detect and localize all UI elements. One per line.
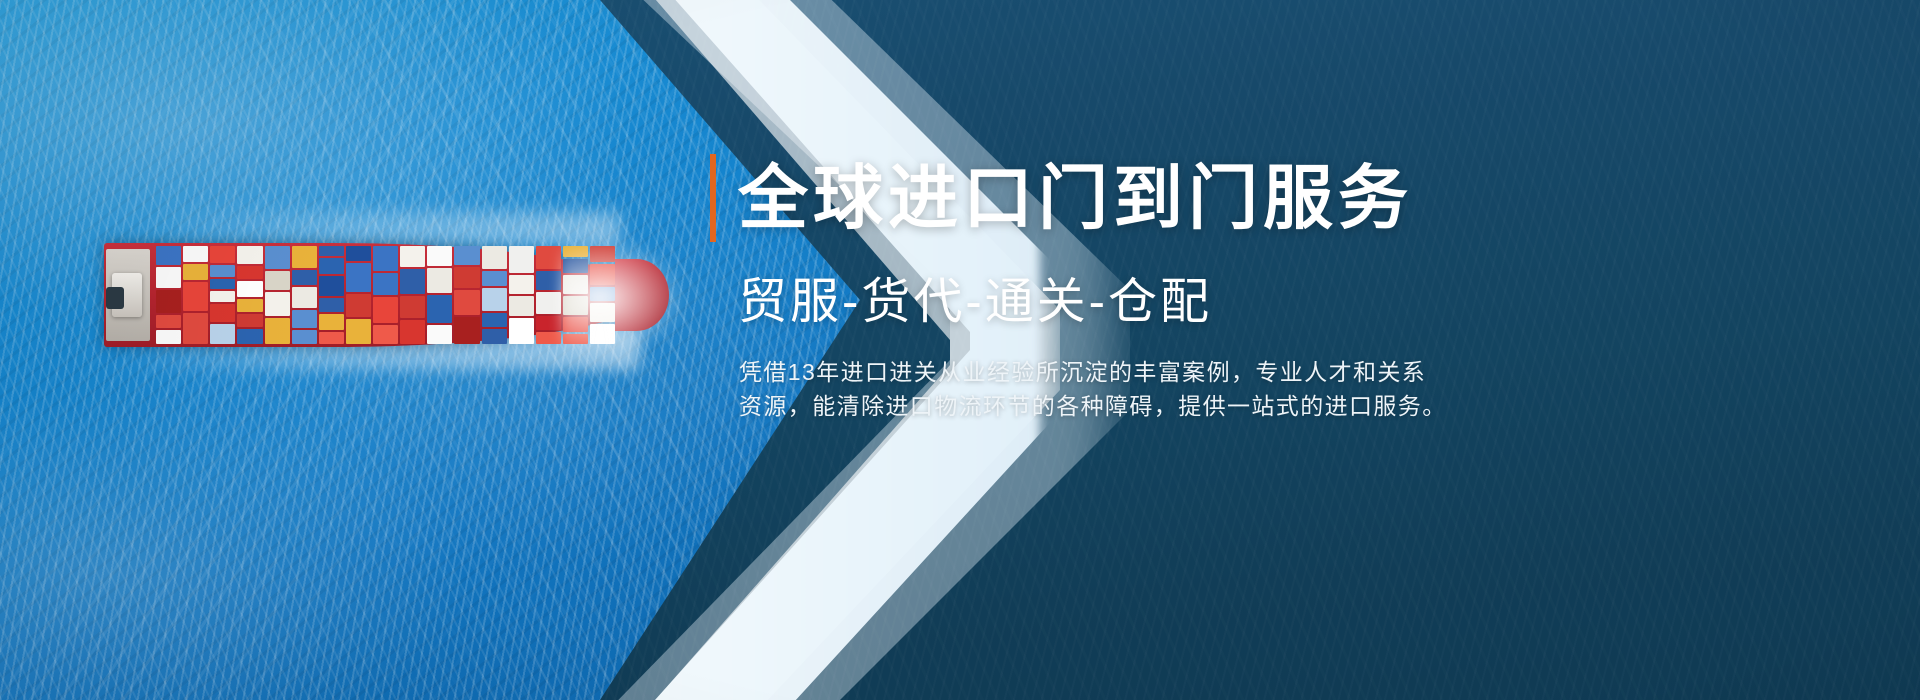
shipping-container bbox=[292, 330, 317, 344]
description-line-1: 凭借13年进口进关从业经验所沉淀的丰富案例，专业人才和关系 bbox=[739, 355, 1439, 389]
shipping-container bbox=[400, 269, 425, 293]
shipping-container bbox=[346, 319, 371, 344]
shipping-container bbox=[536, 292, 561, 313]
shipping-container bbox=[454, 317, 479, 344]
shipping-container bbox=[319, 332, 344, 344]
shipping-container bbox=[536, 246, 561, 269]
shipping-container bbox=[509, 296, 534, 316]
shipping-container bbox=[536, 271, 561, 290]
shipping-container bbox=[427, 295, 452, 323]
ship-stern-deck bbox=[106, 287, 124, 309]
shipping-container bbox=[346, 246, 371, 261]
shipping-container bbox=[319, 314, 344, 330]
container-bay bbox=[292, 246, 317, 344]
accent-bar bbox=[710, 154, 716, 242]
hero-copy: 全球进口门到门服务 贸服-货代-通关-仓配 凭借13年进口进关从业经验所沉淀的丰… bbox=[710, 150, 1810, 423]
shipping-container bbox=[373, 325, 398, 344]
shipping-container bbox=[237, 299, 262, 312]
shipping-container bbox=[265, 318, 290, 344]
hero-banner: 全球进口门到门服务 贸服-货代-通关-仓配 凭借13年进口进关从业经验所沉淀的丰… bbox=[0, 0, 1920, 700]
shipping-container bbox=[319, 258, 344, 274]
shipping-container bbox=[183, 282, 208, 311]
shipping-container bbox=[156, 315, 181, 327]
container-bay bbox=[373, 246, 398, 344]
shipping-container bbox=[373, 273, 398, 295]
shipping-container bbox=[237, 329, 262, 344]
container-bay bbox=[210, 246, 235, 344]
shipping-container bbox=[346, 263, 371, 293]
shipping-container bbox=[292, 287, 317, 308]
shipping-container bbox=[482, 329, 507, 344]
shipping-container bbox=[319, 246, 344, 256]
shipping-container bbox=[346, 294, 371, 317]
shipping-container bbox=[210, 291, 235, 302]
shipping-container bbox=[237, 266, 262, 279]
shipping-container bbox=[373, 297, 398, 323]
headline-row: 全球进口门到门服务 bbox=[710, 150, 1810, 246]
shipping-container bbox=[400, 296, 425, 319]
shipping-container bbox=[400, 320, 425, 344]
shipping-container bbox=[265, 271, 290, 290]
shipping-container bbox=[183, 313, 208, 344]
container-bay bbox=[482, 246, 507, 344]
shipping-container bbox=[319, 276, 344, 296]
shipping-container bbox=[183, 264, 208, 280]
container-bay bbox=[183, 246, 208, 344]
container-bay bbox=[265, 246, 290, 344]
shipping-container bbox=[509, 318, 534, 344]
shipping-container bbox=[319, 298, 344, 312]
container-bay bbox=[237, 246, 262, 344]
shipping-container bbox=[509, 275, 534, 294]
shipping-container bbox=[427, 325, 452, 344]
shipping-container bbox=[210, 265, 235, 277]
shipping-container bbox=[292, 246, 317, 268]
container-bay bbox=[509, 246, 534, 344]
shipping-container bbox=[427, 246, 452, 266]
description-line-2: 资源，能清除进口物流环节的各种障碍，提供一站式的进口服务。 bbox=[739, 389, 1439, 423]
shipping-container bbox=[536, 332, 561, 344]
shipping-container bbox=[400, 246, 425, 267]
shipping-container bbox=[210, 324, 235, 344]
shipping-container bbox=[183, 246, 208, 262]
container-bay bbox=[536, 246, 561, 344]
description: 凭借13年进口进关从业经验所沉淀的丰富案例，专业人才和关系 资源，能清除进口物流… bbox=[739, 355, 1439, 423]
container-bay bbox=[319, 246, 344, 344]
shipping-container bbox=[482, 288, 507, 311]
shipping-container bbox=[292, 270, 317, 284]
shipping-container bbox=[536, 316, 561, 331]
shipping-container bbox=[454, 267, 479, 288]
ship-trail-top bbox=[150, 212, 620, 246]
container-bay bbox=[454, 246, 479, 344]
shipping-container bbox=[237, 314, 262, 327]
shipping-container bbox=[156, 290, 181, 314]
shipping-container bbox=[482, 313, 507, 326]
container-bay bbox=[346, 246, 371, 344]
shipping-container bbox=[210, 304, 235, 322]
shipping-container bbox=[237, 246, 262, 264]
shipping-container bbox=[482, 246, 507, 269]
page-title: 全球进口门到门服务 bbox=[738, 163, 1413, 233]
container-bay bbox=[427, 246, 452, 344]
shipping-container bbox=[210, 279, 235, 289]
shipping-container bbox=[156, 246, 181, 265]
container-bay bbox=[400, 246, 425, 344]
shipping-container bbox=[265, 246, 290, 269]
shipping-container bbox=[509, 246, 534, 273]
shipping-container bbox=[482, 271, 507, 286]
shipping-container bbox=[156, 267, 181, 288]
shipping-container bbox=[373, 246, 398, 271]
shipping-container bbox=[210, 246, 235, 263]
shipping-container bbox=[292, 310, 317, 328]
container-bay bbox=[156, 246, 181, 344]
shipping-container bbox=[265, 292, 290, 316]
shipping-container bbox=[427, 268, 452, 293]
subtitle: 贸服-货代-通关-仓配 bbox=[738, 278, 1810, 327]
shipping-container bbox=[237, 281, 262, 298]
shipping-container bbox=[454, 246, 479, 265]
shipping-container bbox=[156, 330, 181, 344]
shipping-container bbox=[454, 290, 479, 315]
ship-container-deck bbox=[156, 246, 615, 344]
